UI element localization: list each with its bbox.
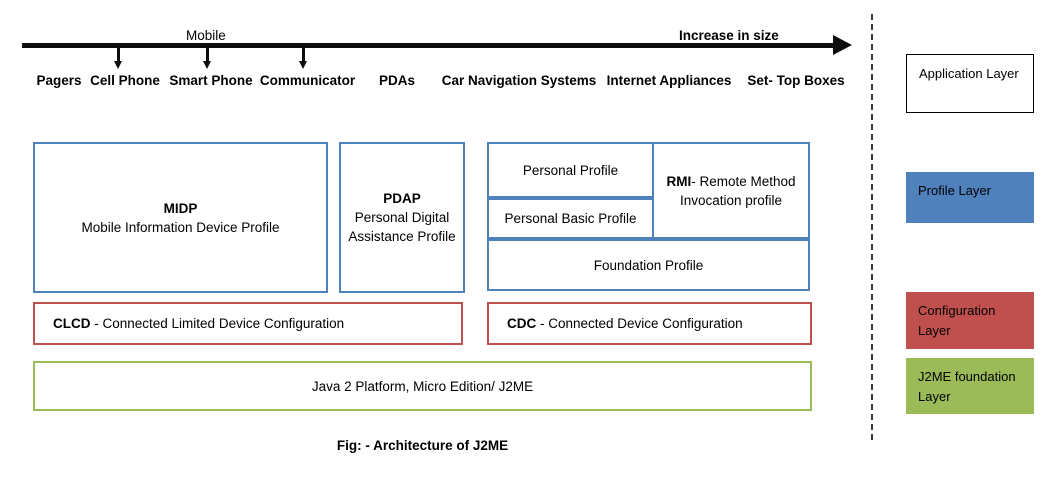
profile-pdap-title: PDAP (347, 189, 457, 208)
profile-rmi-title: RMI (666, 174, 691, 189)
vertical-dashed-divider (871, 14, 873, 440)
axis-caption-increase-in-size: Increase in size (679, 28, 779, 44)
device-label-smart-phone: Smart Phone (163, 73, 259, 89)
legend-item-j2me-foundation-layer[interactable]: J2ME foundation Layer (906, 358, 1034, 414)
profile-pdap-subtitle: Personal Digital Assistance Profile (347, 208, 457, 246)
profile-midp-subtitle: Mobile Information Device Profile (81, 218, 279, 237)
device-label-communicator: Communicator (255, 73, 360, 89)
device-marker-arrow-icon (203, 48, 212, 70)
legend-item-configuration-layer[interactable]: Configuration Layer (906, 292, 1034, 349)
spectrum-arrow-head-icon (833, 35, 852, 55)
legend-item-application-layer[interactable]: Application Layer (906, 54, 1034, 113)
profile-rmi-subtitle: - Remote Method Invocation profile (680, 174, 796, 208)
profile-box-midp[interactable]: MIDP Mobile Information Device Profile (33, 142, 328, 293)
device-marker-arrow-icon (114, 48, 123, 70)
j2me-architecture-diagram: Mobile Increase in size PagersCell Phone… (0, 0, 1052, 478)
configuration-clcd-subtitle: - Connected Limited Device Configuration (91, 316, 345, 331)
profile-box-foundation-profile[interactable]: Foundation Profile (487, 239, 810, 291)
device-label-cell-phone: Cell Phone (82, 73, 168, 89)
device-label-set-top-boxes: Set- Top Boxes (744, 73, 848, 89)
profile-midp-title: MIDP (81, 199, 279, 218)
profile-box-group-cdc: Personal Profile Personal Basic Profile … (485, 141, 812, 293)
device-label-car-navigation-systems: Car Navigation Systems (440, 73, 598, 89)
device-marker-arrow-icon (299, 48, 308, 70)
profile-box-rmi[interactable]: RMI- Remote Method Invocation profile (652, 142, 810, 239)
configuration-box-clcd[interactable]: CLCD - Connected Limited Device Configur… (33, 302, 463, 345)
device-label-internet-appliances: Internet Appliances (602, 73, 736, 89)
figure-caption: Fig: - Architecture of J2ME (0, 438, 845, 453)
profile-box-pdap[interactable]: PDAP Personal Digital Assistance Profile (339, 142, 465, 293)
legend-item-profile-layer[interactable]: Profile Layer (906, 172, 1034, 223)
profile-box-personal-basic-profile[interactable]: Personal Basic Profile (487, 198, 654, 239)
configuration-cdc-subtitle: - Connected Device Configuration (536, 316, 742, 331)
configuration-clcd-title: CLCD (53, 316, 91, 331)
configuration-box-cdc[interactable]: CDC - Connected Device Configuration (487, 302, 812, 345)
configuration-cdc-title: CDC (507, 316, 536, 331)
device-label-pagers: Pagers (28, 73, 90, 89)
axis-caption-mobile: Mobile (186, 28, 226, 44)
platform-box-j2me[interactable]: Java 2 Platform, Micro Edition/ J2ME (33, 361, 812, 411)
profile-box-personal-profile[interactable]: Personal Profile (487, 142, 654, 198)
device-label-pdas: PDAs (373, 73, 421, 89)
